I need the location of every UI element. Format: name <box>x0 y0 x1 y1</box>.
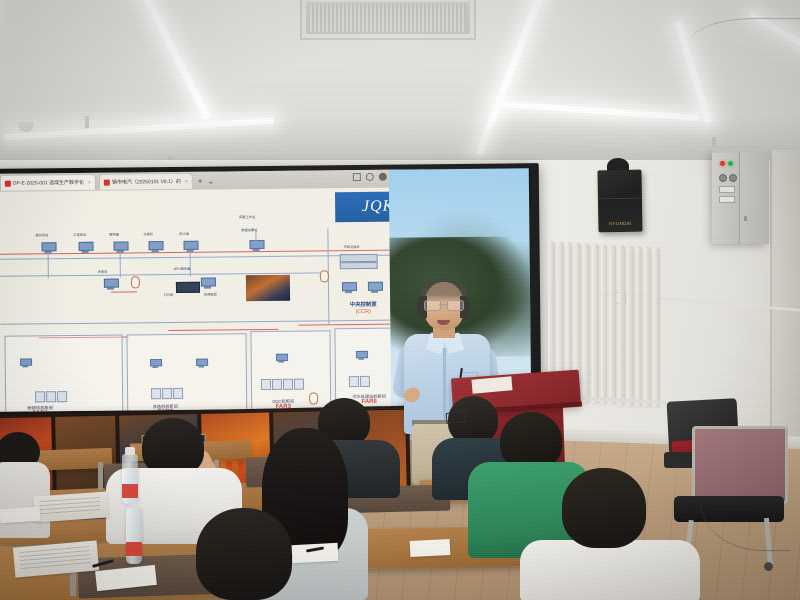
ceiling-light-strip <box>138 0 211 120</box>
diagram-node-label: 交换机 <box>143 233 153 237</box>
diagram-rack-group <box>349 376 370 387</box>
browser-viewport: JQK <box>0 187 427 411</box>
attendee-head <box>196 508 292 600</box>
diagram-node-label: 防火墙 <box>179 233 189 237</box>
indicator-green-icon <box>728 161 733 166</box>
speaker-seam <box>598 198 642 200</box>
diagram-link <box>255 229 256 243</box>
central-control-room-label: 中央控制室 (CCR) <box>328 302 398 317</box>
browser-tab-2-label: 镇市电汽（20250101 V8.1）的 <box>112 178 181 186</box>
diagram-node-label: 视频监控 <box>204 294 217 298</box>
diagram-node-label: 服务器 <box>109 234 119 238</box>
diagram-node-label: 网管工作站 <box>239 216 255 220</box>
browser-tab-2[interactable]: 镇市电汽（20250101 V8.1）的 × <box>99 173 193 190</box>
diagram-video-thumbnail <box>246 275 290 301</box>
network-topology-diagram: 操作员站 工程师站 服务器 交换机 防火墙 数据采集站 网管工作站 历史站 <box>0 205 427 411</box>
diagram-node-firewall <box>131 276 140 288</box>
diagram-node-label: 操作员站 <box>35 234 48 238</box>
diagram-node-workstation <box>183 241 196 251</box>
attendee-torso <box>520 540 700 600</box>
diagram-node-workstation <box>356 351 366 359</box>
cabinet-lock-icon[interactable] <box>744 216 747 221</box>
diagram-node-workstation <box>20 358 30 366</box>
bottle-cap <box>125 447 135 455</box>
water-bottle[interactable] <box>126 508 142 564</box>
diagram-link <box>48 252 49 278</box>
diagram-link <box>298 324 394 326</box>
diagram-link <box>190 251 191 277</box>
handout-booklet[interactable] <box>33 491 109 522</box>
handout-lines <box>19 546 90 572</box>
cabinet-control-panel <box>714 156 738 240</box>
zone-label-far1: 粉碎机机柜间 FAR1 <box>5 405 75 412</box>
wall-speaker: HYUNDAI <box>597 170 642 233</box>
close-icon[interactable]: × <box>88 179 91 185</box>
diagram-node-firewall <box>320 270 329 282</box>
diagram-node-label: 历史站 <box>98 271 108 275</box>
handout-lines <box>40 497 101 517</box>
diagram-node-label: 工程师站 <box>73 234 86 238</box>
wall-edge <box>770 150 772 470</box>
glasses-icon <box>424 300 464 309</box>
diagram-node-workstation <box>276 354 286 362</box>
diagram-rack-group <box>151 388 183 399</box>
rotary-knob[interactable] <box>719 174 727 182</box>
ceiling-cable <box>690 18 800 59</box>
speaker-brand-label: HYUNDAI <box>598 221 642 227</box>
pdf-icon <box>5 180 11 186</box>
cabinet-nameplate <box>719 196 735 203</box>
ceiling <box>0 0 800 180</box>
diagram-zone-box <box>126 333 247 412</box>
diagram-node-label: 环网交换机 <box>344 246 360 250</box>
indicator-red-icon <box>720 161 725 166</box>
cabinet-nameplate <box>719 186 735 193</box>
diagram-node-workstation <box>201 278 214 288</box>
diagram-node-workstation <box>148 241 161 251</box>
chevron-down-icon[interactable]: ⌄ <box>207 176 214 185</box>
diagram-rack-group <box>261 379 304 390</box>
diagram-node-workstation <box>150 359 160 367</box>
profile-avatar[interactable] <box>379 173 387 181</box>
electrical-cabinet[interactable] <box>712 152 768 244</box>
bottle-label <box>122 484 138 498</box>
gear-icon[interactable] <box>366 173 374 181</box>
ceiling-air-vent <box>300 0 476 40</box>
new-tab-icon[interactable]: + <box>198 176 203 185</box>
chair-caster <box>764 562 773 571</box>
browser-tab-1-label: DP-E-2025-001 选煤生产数字化 <box>13 179 84 187</box>
browser-tab-1[interactable]: DP-E-2025-001 选煤生产数字化 × <box>0 174 96 191</box>
bottle-label <box>126 542 142 556</box>
vent-grille <box>310 4 466 32</box>
paper-sheet[interactable] <box>410 539 451 557</box>
display-content: DP-E-2025-001 选煤生产数字化 × 镇市电汽（20250101 V8… <box>0 169 427 411</box>
diagram-node-workstation <box>41 242 54 252</box>
paper-sheet[interactable] <box>292 543 339 563</box>
diagram-link <box>111 291 137 292</box>
pdf-icon <box>104 179 110 185</box>
desk-frame <box>98 462 103 490</box>
diagram-trunk-red <box>0 250 394 255</box>
diagram-node-workstation <box>368 282 381 292</box>
diagram-node-workstation <box>113 241 126 251</box>
water-bottle[interactable] <box>122 454 138 504</box>
attendee-head <box>562 468 646 548</box>
diagram-rack-group <box>35 391 67 402</box>
diagram-node-workstation <box>196 359 206 367</box>
rotary-knob[interactable] <box>729 174 737 182</box>
diagram-node-label: 打印机 <box>164 294 174 298</box>
diagram-trunk-blue <box>0 255 394 260</box>
diagram-node-workstation <box>342 282 355 292</box>
diagram-node-switch <box>340 262 378 269</box>
diagram-node-workstation <box>104 279 117 289</box>
diagram-node-server <box>176 282 200 293</box>
cabinet-door[interactable] <box>739 152 769 244</box>
screenshot-root: DP-E-2025-001 选煤生产数字化 × 镇市电汽（20250101 V8… <box>0 0 800 600</box>
bottle-cap <box>129 501 139 509</box>
diagram-node-workstation <box>78 242 91 252</box>
glasses-icon <box>445 411 466 424</box>
ccr-label-id: (CCR) <box>328 309 398 317</box>
paper-sheet[interactable] <box>0 507 40 524</box>
zone-label-far1-id: FAR1 <box>5 410 75 412</box>
tab-overview-icon[interactable] <box>353 173 361 181</box>
diagram-node-label: OPC服务器 <box>174 268 191 272</box>
close-icon[interactable]: × <box>185 178 188 184</box>
diagram-link <box>120 252 121 278</box>
diagram-node-firewall <box>309 392 318 404</box>
